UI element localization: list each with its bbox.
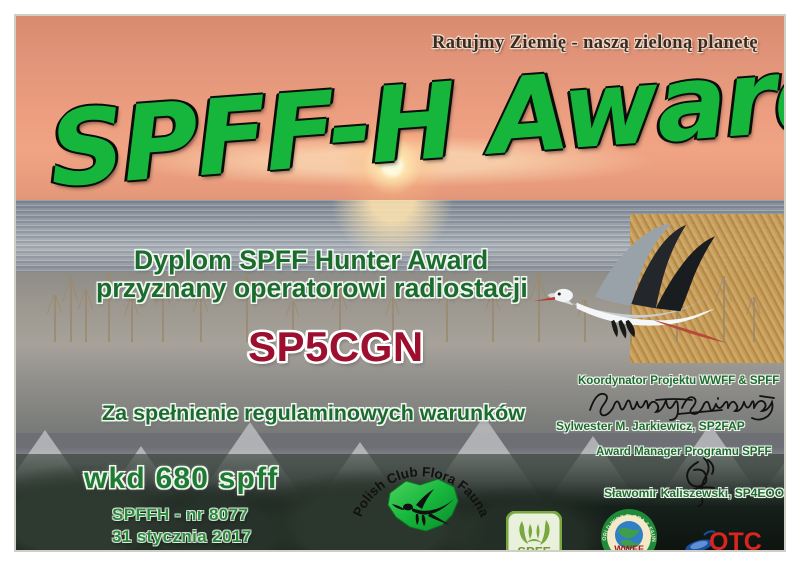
flying-stork-illustration <box>508 219 769 363</box>
handwritten-signature-award-manager <box>668 456 732 508</box>
spff-logo-text: SPFF <box>517 544 550 552</box>
qtc-sub1: The Polish <box>734 550 766 552</box>
spff-logo: SPFF <box>506 511 562 552</box>
svg-text:• SP-CFF •: • SP-CFF • <box>384 550 457 552</box>
signature-name-coordinator: Sylwester M. Jarkiewicz, SP2FAP <box>556 419 745 433</box>
signature-name-award-manager: Sławomir Kaliszewski, SP4EOO <box>604 486 784 500</box>
callsign: SP5CGN <box>248 323 424 371</box>
condition-text: Za spełnienie regulaminowych warunków <box>102 401 525 426</box>
qtc-logo: QTC The Polish Radio Amateurs' Journal <box>682 524 786 552</box>
sp-cff-arc-bottom-text: • SP-CFF • <box>384 550 457 552</box>
wwff-logo: WWFF WORLD WIDE FLORA & FAUNA <box>600 508 658 552</box>
score-line: wkd 680 spff <box>84 462 278 496</box>
certificate-number: SPFFH - nr 8077 <box>112 505 248 525</box>
qtc-logo-text: QTC <box>709 528 762 552</box>
wwff-center-text: WWFF <box>614 544 644 552</box>
certificate-date: 31 stycznia 2017 <box>112 527 252 547</box>
subtitle-line-2: przyznany operatorowi radiostacji <box>96 273 528 304</box>
award-certificate: Ratujmy Ziemię - naszą zieloną planetę S… <box>0 0 800 566</box>
sp-cff-logo: Polish Club Flora Fauna • SP-CFF • <box>346 451 496 552</box>
certificate-frame: Ratujmy Ziemię - naszą zieloną planetę S… <box>14 14 786 552</box>
handwritten-signature-coordinator <box>582 384 782 422</box>
subtitle-line-1: Dyplom SPFF Hunter Award <box>134 245 488 276</box>
